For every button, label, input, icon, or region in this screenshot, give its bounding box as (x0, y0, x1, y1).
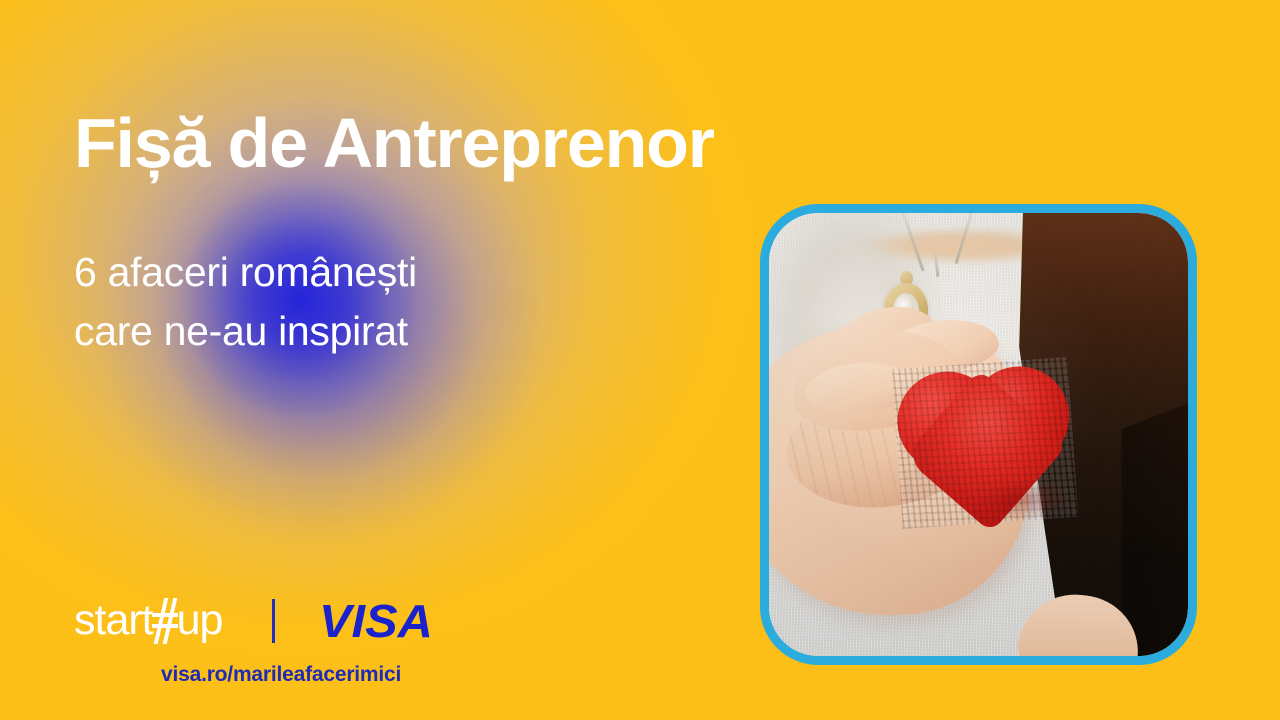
startup-logo-text-before: start (74, 596, 153, 644)
footer-logo-row: startup VISA (74, 598, 427, 644)
startup-logo[interactable]: startup (74, 598, 222, 644)
banner-canvas: Fișă de Antreprenor 6 afaceri românești … (0, 0, 1280, 720)
photo-frame (760, 204, 1197, 665)
subtitle-line-1: 6 afaceri românești (74, 243, 417, 302)
campaign-url[interactable]: visa.ro/marileafacerimici (161, 663, 401, 687)
visa-logo[interactable]: VISA (319, 598, 433, 644)
photo-image (769, 213, 1188, 656)
crocheted-heart-icon (892, 357, 1079, 529)
startup-logo-text-after: up (177, 596, 223, 644)
hash-slash-icon (152, 598, 178, 644)
necklace-chain (889, 213, 1009, 277)
logo-divider (272, 599, 275, 643)
subtitle-line-2: care ne-au inspirat (74, 302, 417, 361)
page-title: Fișă de Antreprenor (74, 108, 714, 178)
subtitle: 6 afaceri românești care ne-au inspirat (74, 243, 417, 362)
